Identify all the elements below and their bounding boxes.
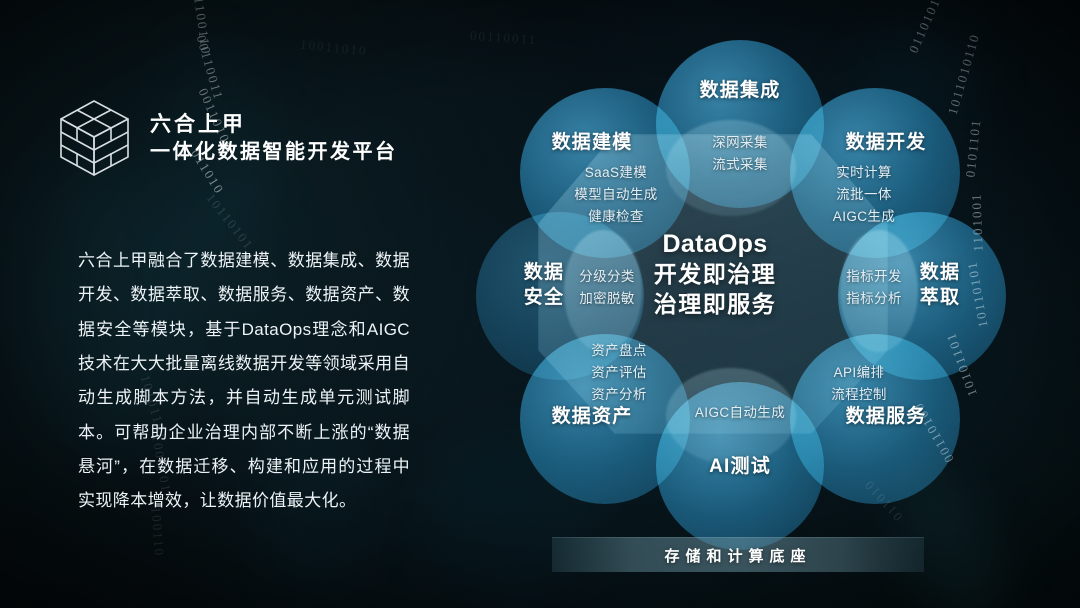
venn-diagram: 数据集成 深网采集 流式采集 数据建模 SaaS建模 模型自动生成 健康检查 数… [460,16,1080,596]
brick-corner-icon [58,99,132,177]
brand-name: 六合上甲 [150,113,398,136]
label-data-development[interactable]: 数据开发 [816,130,956,155]
description-paragraph: 六合上甲融合了数据建模、数据集成、数据开发、数据萃取、数据服务、数据资产、数据安… [78,244,410,519]
items-data-development: 实时计算 流批一体 AIGC生成 [794,162,934,228]
left-panel: 六合上甲 一体化数据智能开发平台 六合上甲融合了数据建模、数据集成、数据开发、数… [0,0,470,608]
core-line-2: 治理即服务 [615,290,815,320]
core-line-1: 开发即治理 [615,260,815,290]
base-platform-label: 存储和计算底座 [664,545,811,566]
label-data-integration[interactable]: 数据集成 [670,78,810,103]
brand-header: 六合上甲 一体化数据智能开发平台 [58,99,398,177]
items-data-extraction: 指标开发 指标分析 [826,266,922,310]
core-title-en: DataOps [615,228,815,260]
label-data-service[interactable]: 数据服务 [816,404,956,429]
items-data-integration: 深网采集 流式采集 [672,132,808,176]
items-ai-testing: AIGC自动生成 [658,402,822,424]
slide-canvas: 01100110 00110011 00110100 011010 101101… [0,0,1080,608]
items-data-asset: 资产盘点 资产评估 资产分析 [564,340,674,406]
label-data-modeling[interactable]: 数据建模 [522,130,662,155]
items-data-modeling: SaaS建模 模型自动生成 健康检查 [546,162,686,228]
core-label: DataOps 开发即治理 治理即服务 [615,228,815,320]
brand-text: 六合上甲 一体化数据智能开发平台 [150,113,398,163]
label-ai-testing[interactable]: AI测试 [670,454,810,479]
label-data-asset[interactable]: 数据资产 [522,404,662,429]
brand-subtitle: 一体化数据智能开发平台 [150,141,398,163]
items-data-service: API编排 流程控制 [804,362,914,406]
base-platform-bar[interactable]: 存储和计算底座 [552,537,924,572]
